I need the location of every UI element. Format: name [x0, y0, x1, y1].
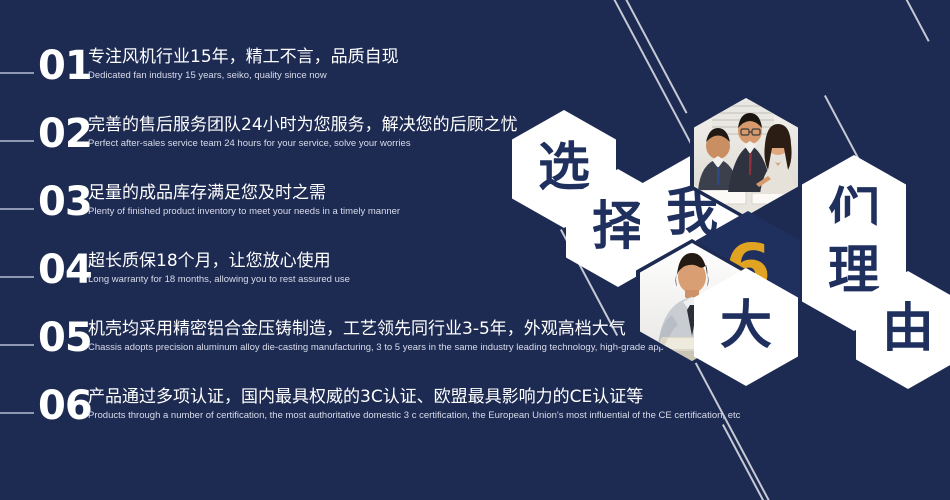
reason-subtitle-en: Long warranty for 18 months, allowing yo…	[88, 273, 620, 286]
reason-subtitle-en: Dedicated fan industry 15 years, seiko, …	[88, 69, 620, 82]
hex-glyph: 理	[828, 245, 880, 297]
reason-number: 05	[38, 318, 92, 358]
reason-item[interactable]: 04 超长质保18个月，让您放心使用 Long warranty for 18 …	[0, 248, 620, 316]
reason-subtitle-en: Chassis adopts precision aluminum alloy …	[88, 341, 620, 354]
reason-number: 02	[38, 114, 92, 154]
reason-texts: 产品通过多项认证，国内最具权威的3C认证、欧盟最具影响力的CE认证等 Produ…	[88, 386, 620, 422]
reason-headline-cn: 专注风机行业15年，精工不言，品质自现	[88, 46, 620, 68]
hex-glyph: 择	[592, 201, 644, 253]
leader-dash	[0, 276, 34, 278]
reason-headline-cn: 超长质保18个月，让您放心使用	[88, 250, 620, 272]
reason-number: 04	[38, 250, 92, 290]
diagonal-line-bottom-1	[693, 359, 770, 500]
reason-texts: 专注风机行业15年，精工不言，品质自现 Dedicated fan indust…	[88, 46, 620, 82]
reason-number: 06	[38, 386, 92, 426]
reasons-list: 01 专注风机行业15年，精工不言，品质自现 Dedicated fan ind…	[0, 44, 620, 452]
diagonal-line-top-3	[895, 0, 930, 42]
leader-dash	[0, 208, 34, 210]
diagonal-line-bottom-2	[722, 424, 771, 500]
leader-dash	[0, 412, 34, 414]
reason-headline-cn: 产品通过多项认证，国内最具权威的3C认证、欧盟最具影响力的CE认证等	[88, 386, 620, 408]
hex-glyph: 大	[720, 300, 772, 352]
reason-headline-cn: 机壳均采用精密铝合金压铸制造，工艺领先同行业3-5年，外观高档大气	[88, 318, 620, 340]
hex-glyph: 选	[538, 142, 590, 194]
leader-dash	[0, 140, 34, 142]
reason-number: 03	[38, 182, 92, 222]
reason-number: 01	[38, 46, 92, 86]
banner-canvas: 01 专注风机行业15年，精工不言，品质自现 Dedicated fan ind…	[0, 0, 950, 500]
reason-subtitle-en: Products through a number of certificati…	[88, 409, 620, 422]
hex-glyph: 由	[882, 303, 934, 355]
leader-dash	[0, 72, 34, 74]
reason-texts: 机壳均采用精密铝合金压铸制造，工艺领先同行业3-5年，外观高档大气 Chassi…	[88, 318, 620, 354]
reason-texts: 超长质保18个月，让您放心使用 Long warranty for 18 mon…	[88, 250, 620, 286]
reason-item[interactable]: 05 机壳均采用精密铝合金压铸制造，工艺领先同行业3-5年，外观高档大气 Cha…	[0, 316, 620, 384]
reason-item[interactable]: 01 专注风机行业15年，精工不言，品质自现 Dedicated fan ind…	[0, 44, 620, 112]
reason-item[interactable]: 06 产品通过多项认证，国内最具权威的3C认证、欧盟最具影响力的CE认证等 Pr…	[0, 384, 620, 452]
diagonal-line-top-1	[620, 0, 687, 114]
leader-dash	[0, 344, 34, 346]
